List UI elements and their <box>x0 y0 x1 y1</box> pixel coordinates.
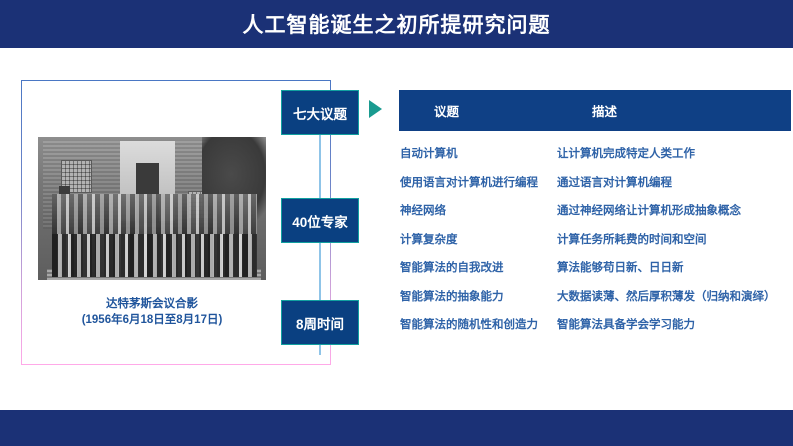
triangle-right-icon <box>369 100 382 118</box>
stage-box-label: 40位专家 <box>292 211 348 231</box>
table-row[interactable]: 自动计算机 让计算机完成特定人类工作 <box>399 139 791 168</box>
table-row[interactable]: 计算复杂度 计算任务所耗费的时间和空间 <box>399 225 791 254</box>
header-banner: 人工智能诞生之初所提研究问题 <box>0 0 793 48</box>
table-row[interactable]: 神经网络 通过神经网络让计算机形成抽象概念 <box>399 196 791 225</box>
cell-description: 大数据读薄、然后厚积薄发（归纳和演绎） <box>557 288 791 304</box>
photo-caption-date: (1956年6月18日至8月17日) <box>38 311 266 327</box>
stage-box-topics[interactable]: 七大议题 <box>281 90 359 135</box>
table-body: 自动计算机 让计算机完成特定人类工作 使用语言对计算机进行编程 通过语言对计算机… <box>399 139 791 339</box>
cell-description: 计算任务所耗费的时间和空间 <box>557 231 791 247</box>
cell-description: 通过语言对计算机编程 <box>557 174 791 190</box>
photo-caption-title: 达特茅斯会议合影 <box>38 295 266 311</box>
column-header-description: 描述 <box>557 101 791 120</box>
footer-band <box>0 410 793 446</box>
column-header-topic: 议题 <box>399 101 557 120</box>
table-row[interactable]: 使用语言对计算机进行编程 通过语言对计算机编程 <box>399 168 791 197</box>
header-divider <box>0 48 793 50</box>
cell-description: 智能算法具备学会学习能力 <box>557 316 791 332</box>
table-header-row: 议题 描述 <box>399 90 791 131</box>
cell-topic: 智能算法的抽象能力 <box>399 288 557 304</box>
page-title: 人工智能诞生之初所提研究问题 <box>243 9 551 39</box>
cell-description: 让计算机完成特定人类工作 <box>557 145 791 161</box>
cell-topic: 神经网络 <box>399 202 557 218</box>
stage-box-label: 8周时间 <box>296 313 344 333</box>
table-row[interactable]: 智能算法的抽象能力 大数据读薄、然后厚积薄发（归纳和演绎） <box>399 282 791 311</box>
cell-topic: 计算复杂度 <box>399 231 557 247</box>
table-row[interactable]: 智能算法的随机性和创造力 智能算法具备学会学习能力 <box>399 310 791 339</box>
cell-description: 通过神经网络让计算机形成抽象概念 <box>557 202 791 218</box>
cell-description: 算法能够苟日新、日日新 <box>557 259 791 275</box>
table-row[interactable]: 智能算法的自我改进 算法能够苟日新、日日新 <box>399 253 791 282</box>
conference-group-photo <box>38 137 266 280</box>
cell-topic: 自动计算机 <box>399 145 557 161</box>
photo-crowd-front-row <box>52 234 257 277</box>
cell-topic: 使用语言对计算机进行编程 <box>399 174 557 190</box>
stage-box-label: 七大议题 <box>293 103 347 123</box>
cell-topic: 智能算法的自我改进 <box>399 259 557 275</box>
topics-table: 议题 描述 自动计算机 让计算机完成特定人类工作 使用语言对计算机进行编程 通过… <box>399 90 791 339</box>
cell-topic: 智能算法的随机性和创造力 <box>399 316 557 332</box>
stage-box-experts[interactable]: 40位专家 <box>281 198 359 243</box>
stage-box-duration[interactable]: 8周时间 <box>281 300 359 345</box>
